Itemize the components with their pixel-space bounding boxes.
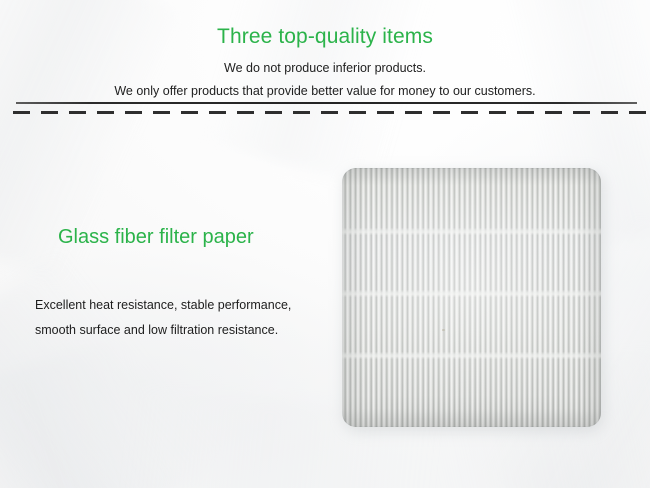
- filter-panel-body: [342, 168, 601, 427]
- banner-subtitle-line-1: We do not produce inferior products.: [0, 49, 650, 75]
- feature-title: Glass fiber filter paper: [58, 226, 254, 249]
- filter-edge-shading: [342, 168, 601, 427]
- banner-subtitle-line-2: We only offer products that provide bett…: [0, 75, 650, 98]
- page-title: Three top-quality items: [0, 0, 650, 49]
- feature-description-line-2: smooth surface and low filtration resist…: [35, 318, 291, 343]
- feature-description: Excellent heat resistance, stable perfor…: [35, 293, 291, 343]
- feature-description-line-1: Excellent heat resistance, stable perfor…: [35, 293, 291, 318]
- slide-canvas: Three top-quality items We do not produc…: [0, 0, 650, 488]
- divider-solid-line: [16, 102, 637, 104]
- product-image-filter-panel: [342, 168, 601, 427]
- banner-header: Three top-quality items We do not produc…: [0, 0, 650, 97]
- divider-dashed-line: [13, 111, 647, 114]
